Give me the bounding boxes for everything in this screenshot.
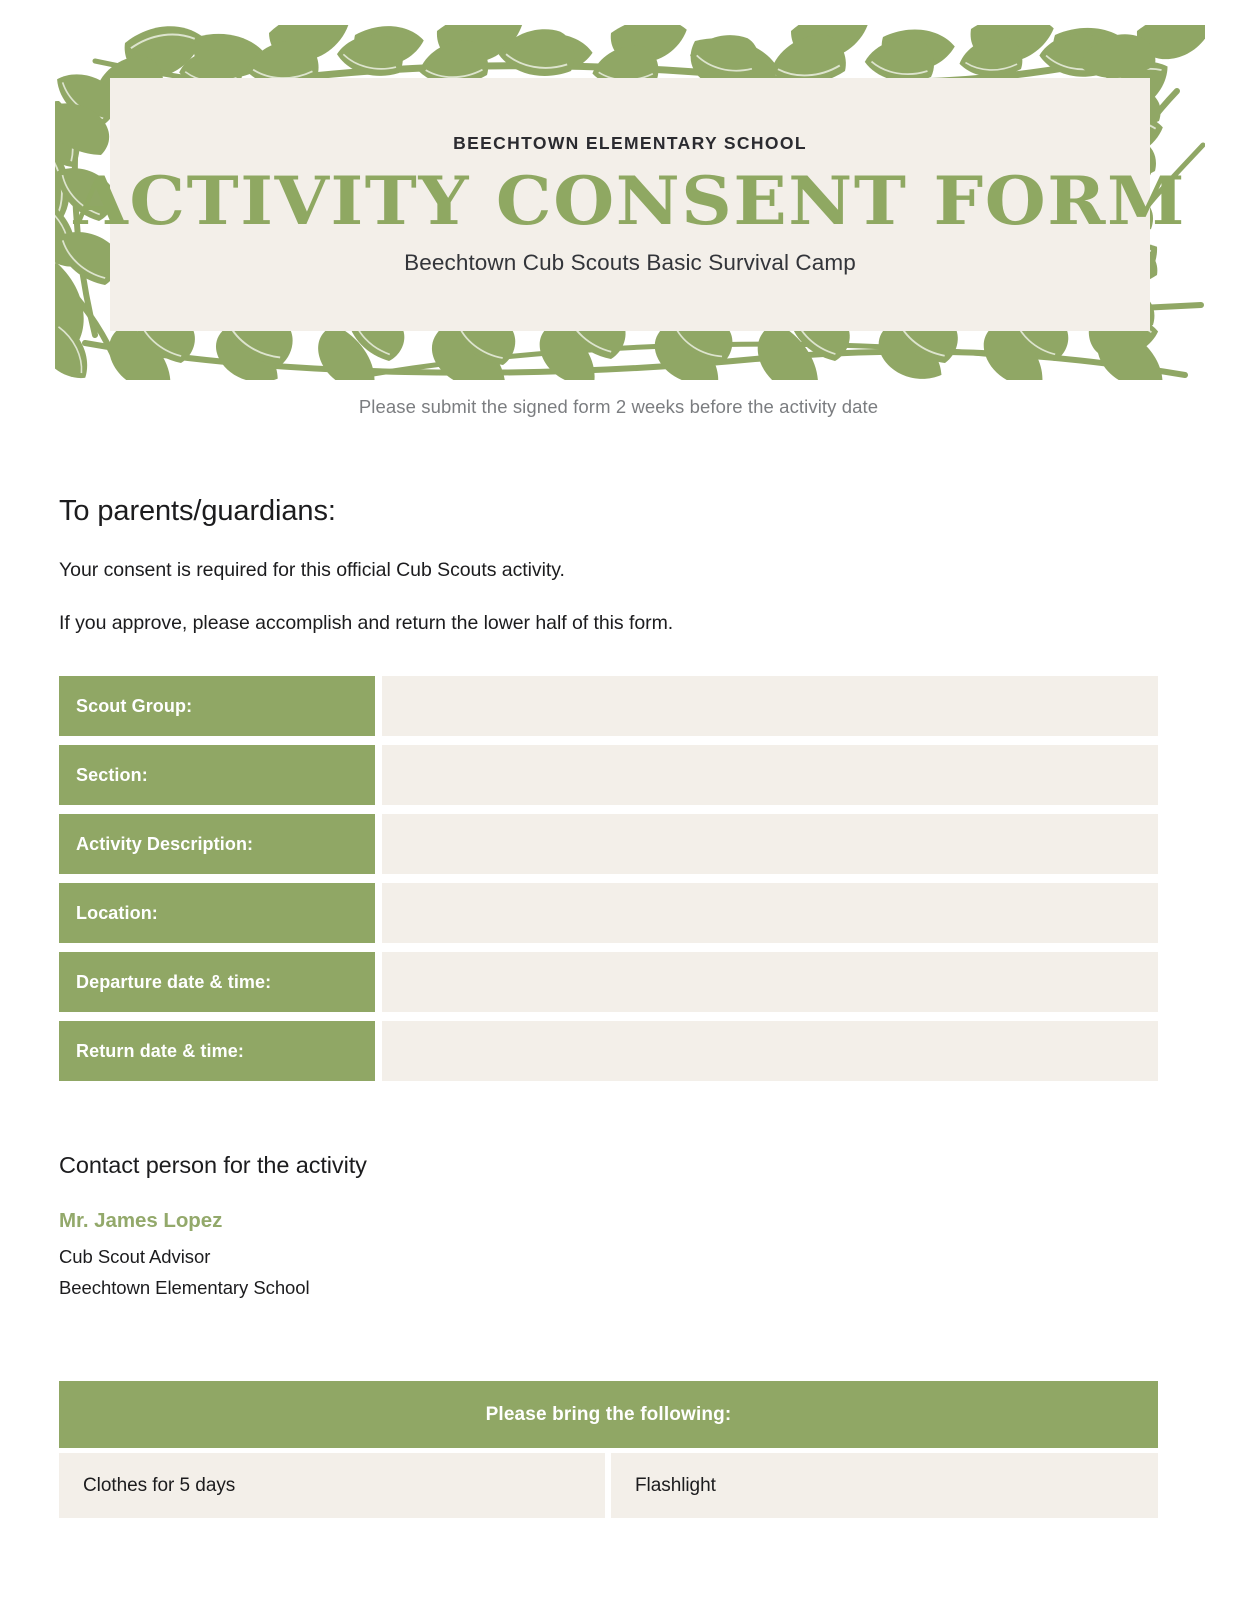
bring-items-table: Please bring the following: Clothes for … <box>59 1381 1158 1518</box>
field-label-return-date-time: Return date & time: <box>59 1021 375 1081</box>
field-input-location[interactable] <box>382 883 1158 943</box>
field-input-departure-date-time[interactable] <box>382 952 1158 1012</box>
contact-person-name: Mr. James Lopez <box>59 1209 1169 1233</box>
field-input-scout-group[interactable] <box>382 676 1158 736</box>
bring-item-clothes: Clothes for 5 days <box>59 1453 605 1518</box>
field-input-activity-description[interactable] <box>382 814 1158 874</box>
field-label-location: Location: <box>59 883 375 943</box>
table-row: Departure date & time: <box>59 952 1158 1012</box>
intro-line-2: If you approve, please accomplish and re… <box>59 610 1169 636</box>
table-row: Return date & time: <box>59 1021 1158 1081</box>
table-row: Activity Description: <box>59 814 1158 874</box>
field-input-section[interactable] <box>382 745 1158 805</box>
submit-note: Please submit the signed form 2 weeks be… <box>0 396 1237 418</box>
header-card: BEECHTOWN ELEMENTARY SCHOOL ACTIVITY CON… <box>110 78 1150 331</box>
bring-items-header: Please bring the following: <box>59 1381 1158 1448</box>
bring-item-flashlight: Flashlight <box>611 1453 1158 1518</box>
intro-heading: To parents/guardians: <box>59 495 1169 528</box>
field-label-scout-group: Scout Group: <box>59 676 375 736</box>
intro-section: To parents/guardians: Your consent is re… <box>59 495 1169 664</box>
table-row: Clothes for 5 days Flashlight <box>59 1453 1158 1518</box>
activity-name: Beechtown Cub Scouts Basic Survival Camp <box>404 250 856 276</box>
field-input-return-date-time[interactable] <box>382 1021 1158 1081</box>
field-label-departure-date-time: Departure date & time: <box>59 952 375 1012</box>
school-name: BEECHTOWN ELEMENTARY SCHOOL <box>453 133 807 154</box>
activity-details-table: Scout Group: Section: Activity Descripti… <box>59 676 1158 1090</box>
field-label-section: Section: <box>59 745 375 805</box>
contact-heading: Contact person for the activity <box>59 1152 1169 1179</box>
table-row: Scout Group: <box>59 676 1158 736</box>
header-banner: BEECHTOWN ELEMENTARY SCHOOL ACTIVITY CON… <box>55 25 1205 380</box>
contact-person-role: Cub Scout Advisor <box>59 1242 1169 1273</box>
consent-form-page: BEECHTOWN ELEMENTARY SCHOOL ACTIVITY CON… <box>0 0 1237 1600</box>
page-title: ACTIVITY CONSENT FORM <box>74 168 1186 234</box>
table-row: Section: <box>59 745 1158 805</box>
intro-line-1: Your consent is required for this offici… <box>59 557 1169 583</box>
field-label-activity-description: Activity Description: <box>59 814 375 874</box>
contact-person-organization: Beechtown Elementary School <box>59 1273 1169 1304</box>
table-row: Location: <box>59 883 1158 943</box>
contact-section: Contact person for the activity Mr. Jame… <box>59 1152 1169 1303</box>
